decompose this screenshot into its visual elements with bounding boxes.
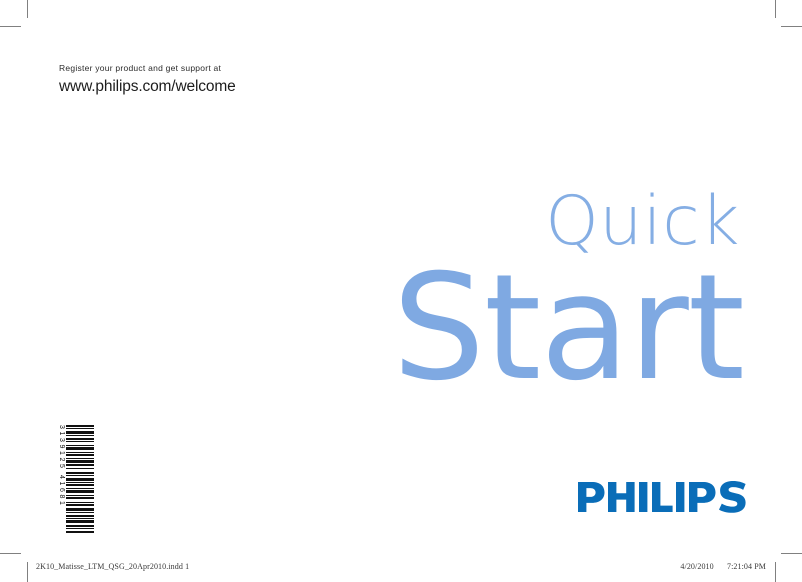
barcode-bars	[66, 425, 94, 533]
footer-time: 7:21:04 PM	[727, 562, 766, 571]
register-prompt-text: Register your product and get support at	[59, 62, 236, 74]
footer-date: 4/20/2010	[680, 562, 713, 571]
barcode: 3139125 41681	[52, 418, 100, 540]
crop-mark-bottom-left-vertical	[27, 562, 28, 582]
page-canvas: Register your product and get support at…	[0, 0, 802, 582]
footer-source-filename: 2K10_Matisse_LTM_QSG_20Apr2010.indd 1	[36, 562, 189, 571]
philips-welcome-url[interactable]: www.philips.com/welcome	[59, 77, 236, 97]
hero-word-quick: Quick	[545, 188, 740, 256]
footer-timestamp: 4/20/2010 7:21:04 PM	[680, 562, 766, 571]
footer-rule	[27, 553, 775, 554]
crop-mark-bottom-right-vertical	[775, 562, 776, 582]
crop-mark-top-left-horizontal	[0, 26, 21, 27]
hero-word-start: Start	[392, 253, 744, 403]
barcode-rotated-group: 3139125 41681	[58, 425, 94, 533]
crop-mark-bottom-right-horizontal	[781, 553, 802, 554]
philips-wordmark-icon	[576, 476, 746, 516]
crop-mark-top-right-horizontal	[781, 26, 802, 27]
barcode-number-text: 3139125 41681	[58, 425, 65, 507]
philips-logo	[576, 476, 746, 516]
crop-mark-top-right-vertical	[775, 0, 776, 18]
crop-mark-top-left-vertical	[27, 0, 28, 18]
register-product-block: Register your product and get support at…	[59, 62, 236, 97]
crop-mark-bottom-left-horizontal	[0, 553, 21, 554]
